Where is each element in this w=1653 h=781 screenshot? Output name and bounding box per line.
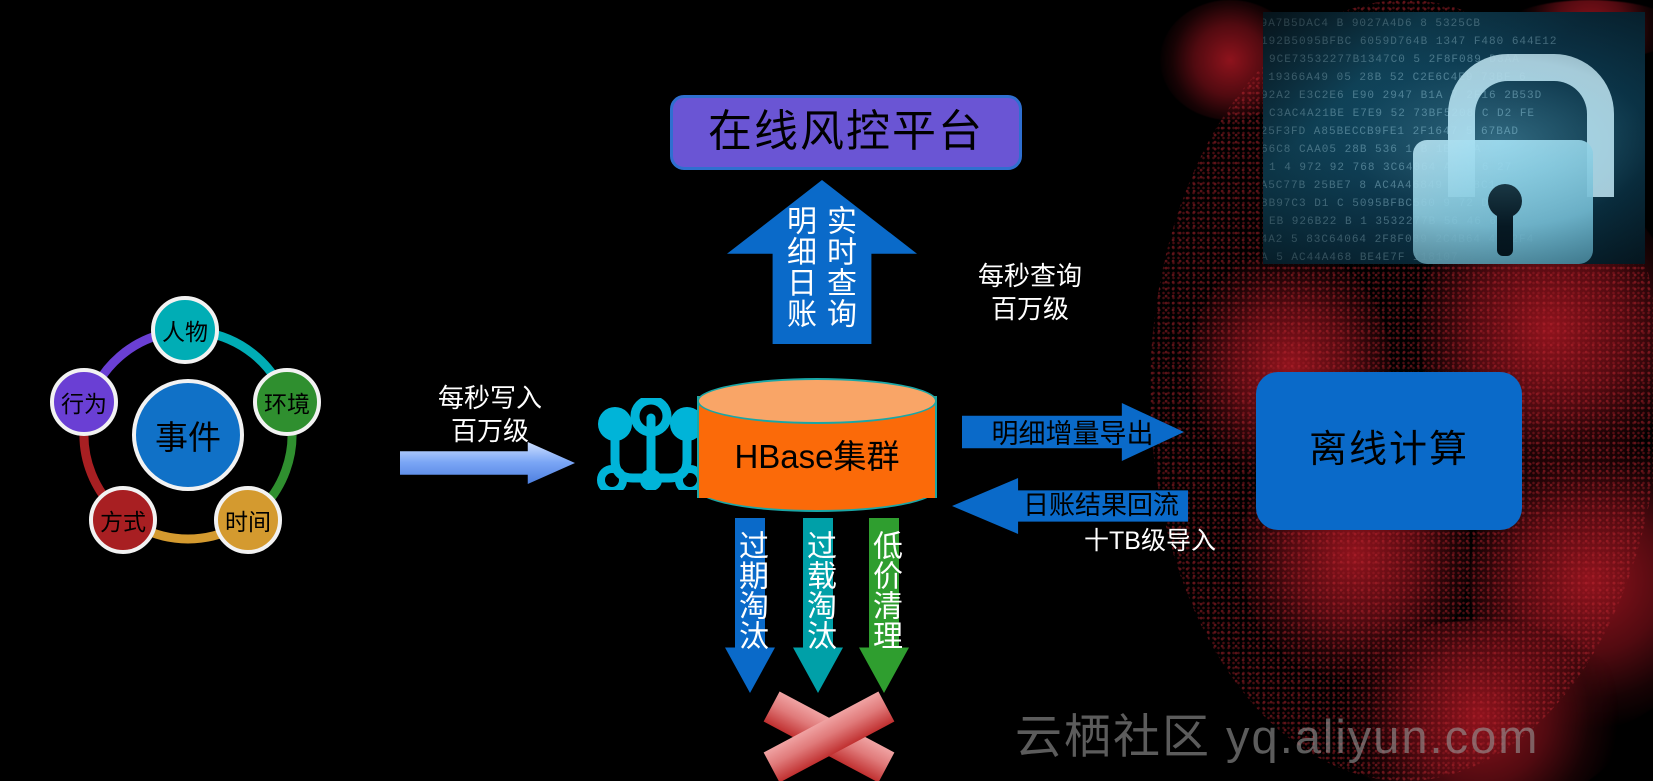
platform-label: 在线风控平台	[708, 108, 984, 156]
discard-x-mark	[769, 690, 889, 781]
slide-canvas: 79A7B5DAC4 B 9027A4D6 8 5325CB192B5095BF…	[0, 0, 1653, 781]
padlock-security-photo: 79A7B5DAC4 B 9027A4D6 8 5325CB192B5095BF…	[1263, 12, 1645, 264]
event-node-center[interactable]: 事件	[132, 379, 244, 491]
event-node-method[interactable]: 方式	[89, 486, 157, 554]
ledger-backflow-label: 日账结果回流	[1015, 485, 1187, 522]
photo-glow-overlay	[1263, 12, 1645, 264]
import-volume-label: 十TB级导入	[1035, 526, 1265, 557]
eviction-arrow-expired-label: 过期淘汰	[735, 530, 765, 650]
event-model-diagram: 人物环境时间方式行为事件	[40, 285, 340, 570]
event-node-behavior[interactable]: 行为	[50, 368, 118, 436]
offline-label: 离线计算	[1309, 430, 1469, 472]
node-label: 行为	[61, 385, 107, 419]
cylinder-top	[697, 378, 937, 424]
up-arrow-label-realtime-query: 实时查询	[823, 205, 853, 329]
node-label: 环境	[264, 385, 310, 419]
hbase-label: HBase集群	[697, 430, 937, 478]
write-flow-arrow	[400, 442, 575, 484]
online-riskcontrol-platform-box[interactable]: 在线风控平台	[670, 95, 1022, 170]
offline-compute-box[interactable]: 离线计算	[1256, 372, 1522, 530]
up-arrow-label-detail-ledger: 明细日账	[783, 205, 813, 329]
hbase-cluster-cylinder[interactable]: HBase集群	[697, 378, 937, 516]
write-throughput-label: 每秒写入 百万级	[400, 382, 580, 447]
watermark: 云栖社区 yq.aliyun.com	[1015, 698, 1539, 767]
node-label: 方式	[100, 503, 146, 537]
event-node-person[interactable]: 人物	[151, 296, 219, 364]
event-node-time[interactable]: 时间	[214, 486, 282, 554]
node-label: 事件	[155, 411, 221, 459]
detail-export-label: 明细增量导出	[985, 412, 1160, 451]
eviction-arrow-lowvalue-label: 低价清理	[869, 530, 899, 650]
node-label: 时间	[225, 503, 271, 537]
query-rate-label: 每秒查询 百万级	[930, 260, 1130, 325]
node-label: 人物	[162, 313, 208, 347]
eviction-arrow-overload-label: 过载淘汰	[803, 530, 833, 650]
event-node-environment[interactable]: 环境	[253, 368, 321, 436]
cluster-nodes-icon	[592, 398, 710, 490]
